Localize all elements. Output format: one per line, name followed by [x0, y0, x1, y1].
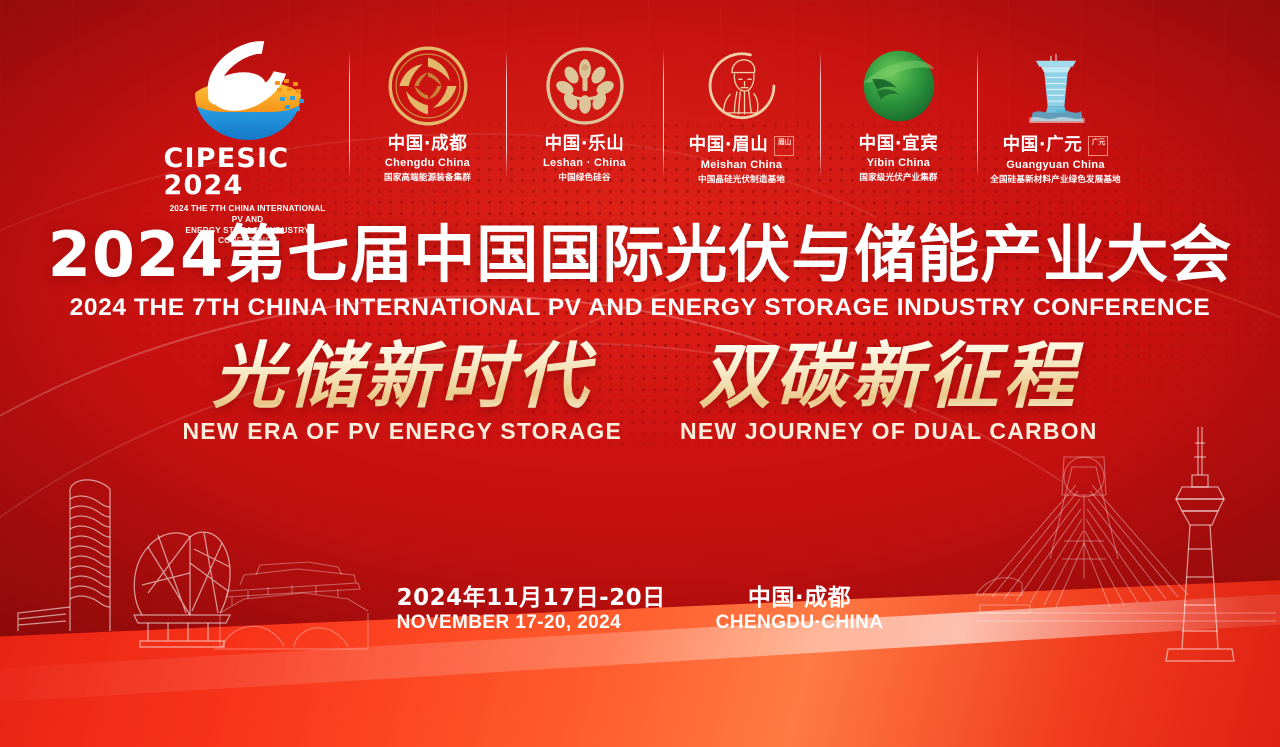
city-desc: 国家级光伏产业集群	[859, 174, 937, 183]
chengdu-sunbird-emblem-icon	[386, 44, 470, 128]
logo-separator	[977, 50, 978, 178]
city-name-en: Meishan China	[701, 160, 783, 171]
slogan-dual-carbon: 双碳新征程 NEW JOURNEY OF DUAL CARBON	[680, 338, 1098, 443]
logo-row: CIPESIC 2024 2024 THE 7TH CHINA INTERNAT…	[0, 44, 1280, 247]
city-name-en: Guangyuan China	[1006, 160, 1105, 171]
guangyuan-tower-emblem-icon	[1014, 44, 1098, 128]
city-name-en: Leshan · China	[543, 158, 626, 169]
event-date-cn: 2024年11月17日-20日	[397, 586, 666, 612]
city-desc: 全国硅基新材料产业绿色发展基地	[990, 176, 1120, 185]
city-name-cn: 中国·成都	[388, 136, 468, 154]
city-logo-chengdu: 中国·成都 Chengdu China 国家高端能源装备集群	[367, 44, 489, 182]
event-location-cn: 中国·成都	[716, 586, 884, 612]
guangyuan-seal-icon: 广元	[1088, 136, 1108, 156]
event-location: 中国·成都 CHENGDU·CHINA	[716, 586, 884, 633]
city-desc: 中国绿色硅谷	[558, 174, 610, 183]
conference-title-en: 2024 THE 7TH CHINA INTERNATIONAL PV AND …	[0, 296, 1280, 321]
yibin-green-sphere-emblem-icon	[857, 44, 941, 128]
slogan-en: NEW ERA OF PV ENERGY STORAGE	[182, 420, 622, 443]
logo-separator	[506, 50, 507, 178]
event-info: 2024年11月17日-20日 NOVEMBER 17-20, 2024 中国·…	[0, 586, 1280, 633]
slogan-cn: 光储新时代	[182, 338, 622, 414]
conference-banner: CIPESIC 2024 2024 THE 7TH CHINA INTERNAT…	[0, 0, 1280, 747]
logo-dot-accents	[273, 79, 307, 119]
slogan-cn: 双碳新征程	[680, 338, 1098, 414]
slogan-pv-energy-storage: 光储新时代 NEW ERA OF PV ENERGY STORAGE	[182, 338, 622, 443]
city-logo-guangyuan: 中国·广元 广元 Guangyuan China 全国硅基新材料产业绿色发展基地	[995, 44, 1117, 185]
logo-separator	[820, 50, 821, 178]
city-logo-yibin: 中国·宜宾 Yibin China 国家级光伏产业集群	[838, 44, 960, 182]
event-date-en: NOVEMBER 17-20, 2024	[397, 612, 666, 633]
city-logo-meishan: 中国·眉山 眉山 Meishan China 中国晶硅光伏制造基地	[681, 44, 803, 185]
slogan-en: NEW JOURNEY OF DUAL CARBON	[680, 420, 1098, 443]
meishan-sushi-portrait-emblem-icon	[700, 44, 784, 128]
cipesic-logo: CIPESIC 2024 2024 THE 7TH CHINA INTERNAT…	[164, 44, 332, 247]
city-desc: 国家高端能源装备集群	[384, 174, 471, 183]
slogan-block: 光储新时代 NEW ERA OF PV ENERGY STORAGE 双碳新征程…	[0, 338, 1280, 443]
city-desc: 中国晶硅光伏制造基地	[698, 176, 785, 185]
cipesic-wordmark: CIPESIC 2024	[164, 145, 332, 199]
city-name-cn: 中国·乐山	[545, 136, 625, 154]
event-location-en: CHENGDU·CHINA	[716, 612, 884, 633]
city-name-en: Chengdu China	[385, 158, 470, 169]
city-name-cn-text: 中国·广元	[1003, 137, 1083, 155]
conference-title-cn: 2024第七届中国国际光伏与储能产业大会	[0, 222, 1280, 287]
city-logo-leshan: 中国·乐山 Leshan · China 中国绿色硅谷	[524, 44, 646, 182]
city-name-cn: 中国·广元 广元	[1003, 136, 1109, 156]
city-name-en: Yibin China	[867, 158, 930, 169]
headline-block: 2024第七届中国国际光伏与储能产业大会 2024 THE 7TH CHINA …	[0, 222, 1280, 321]
logo-separator	[663, 50, 664, 178]
logo-separator	[349, 50, 350, 178]
city-name-cn: 中国·宜宾	[859, 136, 939, 154]
event-date: 2024年11月17日-20日 NOVEMBER 17-20, 2024	[397, 586, 666, 633]
city-name-cn: 中国·眉山 眉山	[689, 136, 795, 156]
meishan-seal-icon: 眉山	[774, 136, 794, 156]
leshan-lotus-emblem-icon	[543, 44, 627, 128]
cipesic-sphere-icon	[189, 44, 307, 140]
city-name-cn-text: 中国·眉山	[689, 137, 769, 155]
